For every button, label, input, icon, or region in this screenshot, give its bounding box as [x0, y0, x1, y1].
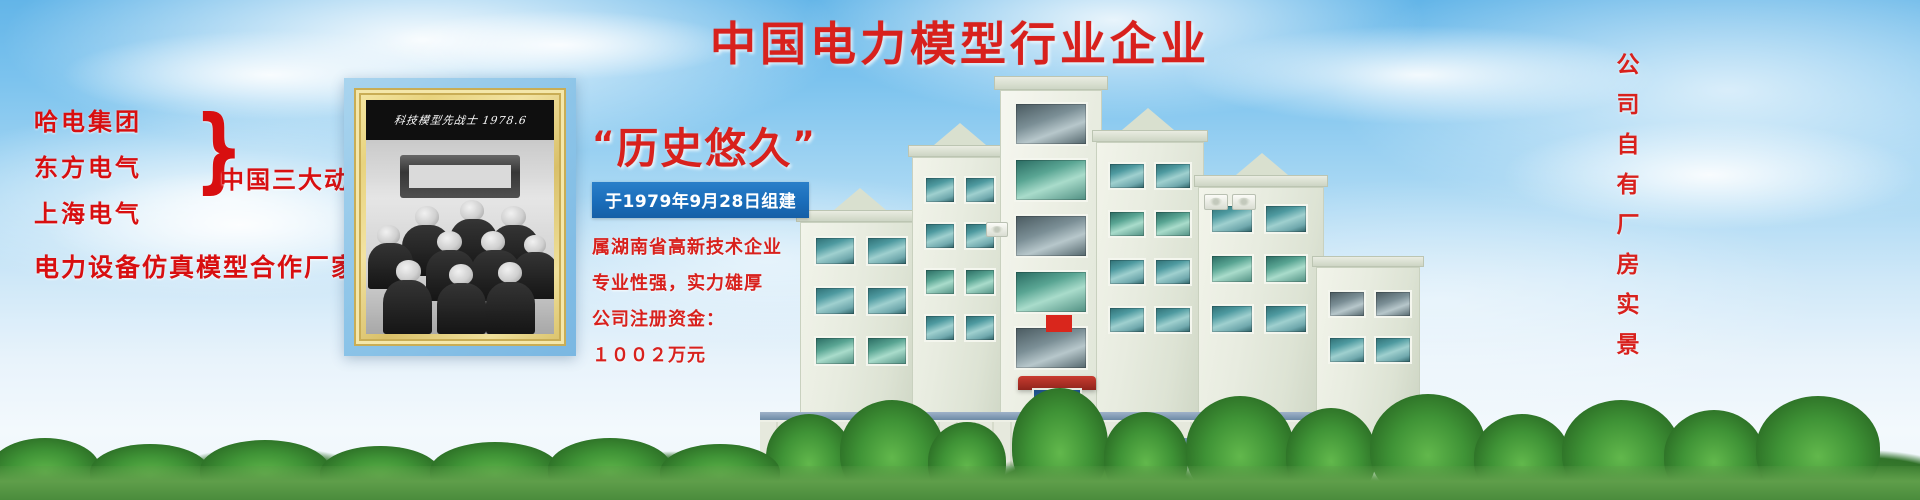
photo-person: [481, 231, 505, 252]
photo-person: [383, 280, 432, 334]
window: [924, 222, 956, 250]
photo-person: [437, 283, 486, 334]
window: [1014, 326, 1088, 370]
air-conditioner-unit: [1232, 194, 1256, 210]
roof-cap: [1194, 175, 1328, 187]
window: [1154, 162, 1192, 190]
center-line-2: 专业性强，实力雄厚: [592, 266, 842, 302]
roof-cap: [994, 76, 1108, 90]
window: [924, 268, 956, 296]
photo-person: [498, 262, 522, 283]
brand-item-3: 上海电气: [34, 202, 364, 226]
window: [1374, 336, 1412, 364]
photo-person: [486, 282, 535, 334]
left-footer-text: 电力设备仿真模型合作厂家: [34, 248, 364, 284]
roof-cap: [908, 145, 1012, 157]
window: [924, 314, 956, 342]
quote-close: ”: [792, 124, 816, 164]
window: [1210, 304, 1254, 334]
air-conditioner-unit: [1204, 194, 1228, 210]
photo-banner: 科技模型先战士 1978.6: [366, 100, 554, 140]
window: [1108, 306, 1146, 334]
window: [964, 176, 996, 204]
photo-person: [449, 264, 473, 285]
window: [1264, 254, 1308, 284]
window: [1154, 306, 1192, 334]
window: [924, 176, 956, 204]
window: [1374, 290, 1412, 318]
flag: [1046, 315, 1072, 332]
air-conditioner-unit: [986, 222, 1008, 237]
framed-photo: 科技模型先战士 1978.6: [344, 78, 576, 356]
center-line-3: 公司注册资金：: [592, 302, 842, 338]
window: [1328, 290, 1366, 318]
window: [866, 236, 908, 266]
window: [1014, 270, 1088, 314]
photo-frame-gold: 科技模型先战士 1978.6: [354, 88, 566, 346]
window: [1264, 304, 1308, 334]
photo-person: [396, 260, 420, 281]
grass-strip: [0, 466, 1920, 500]
window: [1108, 210, 1146, 238]
window: [866, 286, 908, 316]
window: [1264, 204, 1308, 234]
photo-person: [460, 200, 484, 221]
window: [964, 314, 996, 342]
window: [1328, 336, 1366, 364]
window: [1108, 162, 1146, 190]
photo-furniture: [400, 155, 520, 198]
left-text-group: 哈电集团 东方电气 上海电气 } 中国三大动力 电力设备仿真模型合作厂家: [34, 110, 364, 284]
window: [1014, 158, 1088, 202]
roof-cap: [1312, 256, 1424, 267]
vertical-caption: 公司自有厂房实景: [1613, 52, 1636, 372]
photo-banner-text: 科技模型先战士 1978.6: [392, 112, 527, 128]
window: [1014, 102, 1088, 146]
company-banner: 中国电力模型行业企业 哈电集团 东方电气 上海电气 } 中国三大动力 电力设备仿…: [0, 0, 1920, 500]
center-line-1: 属湖南省高新技术企业: [592, 230, 842, 266]
founding-date-badge: 于1979年9月28日组建: [592, 182, 809, 218]
historic-group-photo: 科技模型先战士 1978.6: [366, 100, 554, 334]
headline-text: 历史悠久: [616, 124, 792, 173]
photo-person: [437, 231, 461, 252]
headline-history: “历史悠久”: [592, 126, 842, 172]
quote-open: “: [592, 124, 616, 164]
center-description: 属湖南省高新技术企业 专业性强，实力雄厚 公司注册资金： １００２万元: [592, 230, 842, 374]
photo-person: [501, 206, 525, 227]
window: [1210, 254, 1254, 284]
window: [964, 268, 996, 296]
roof-cap: [1092, 130, 1208, 142]
brand-list: 哈电集团 东方电气 上海电气 } 中国三大动力: [34, 110, 364, 226]
roof-peak: [1122, 108, 1174, 130]
photo-person: [377, 225, 400, 244]
window: [1014, 214, 1088, 258]
window: [1154, 210, 1192, 238]
window: [1154, 258, 1192, 286]
roof-peak: [1236, 153, 1288, 175]
window: [866, 336, 908, 366]
center-line-4: １００２万元: [592, 338, 842, 374]
roof-peak: [934, 123, 986, 145]
photo-room-background: [366, 140, 554, 334]
center-text-group: “历史悠久” 于1979年9月28日组建 属湖南省高新技术企业 专业性强，实力雄…: [592, 126, 842, 374]
photo-person: [415, 206, 439, 227]
window: [1108, 258, 1146, 286]
